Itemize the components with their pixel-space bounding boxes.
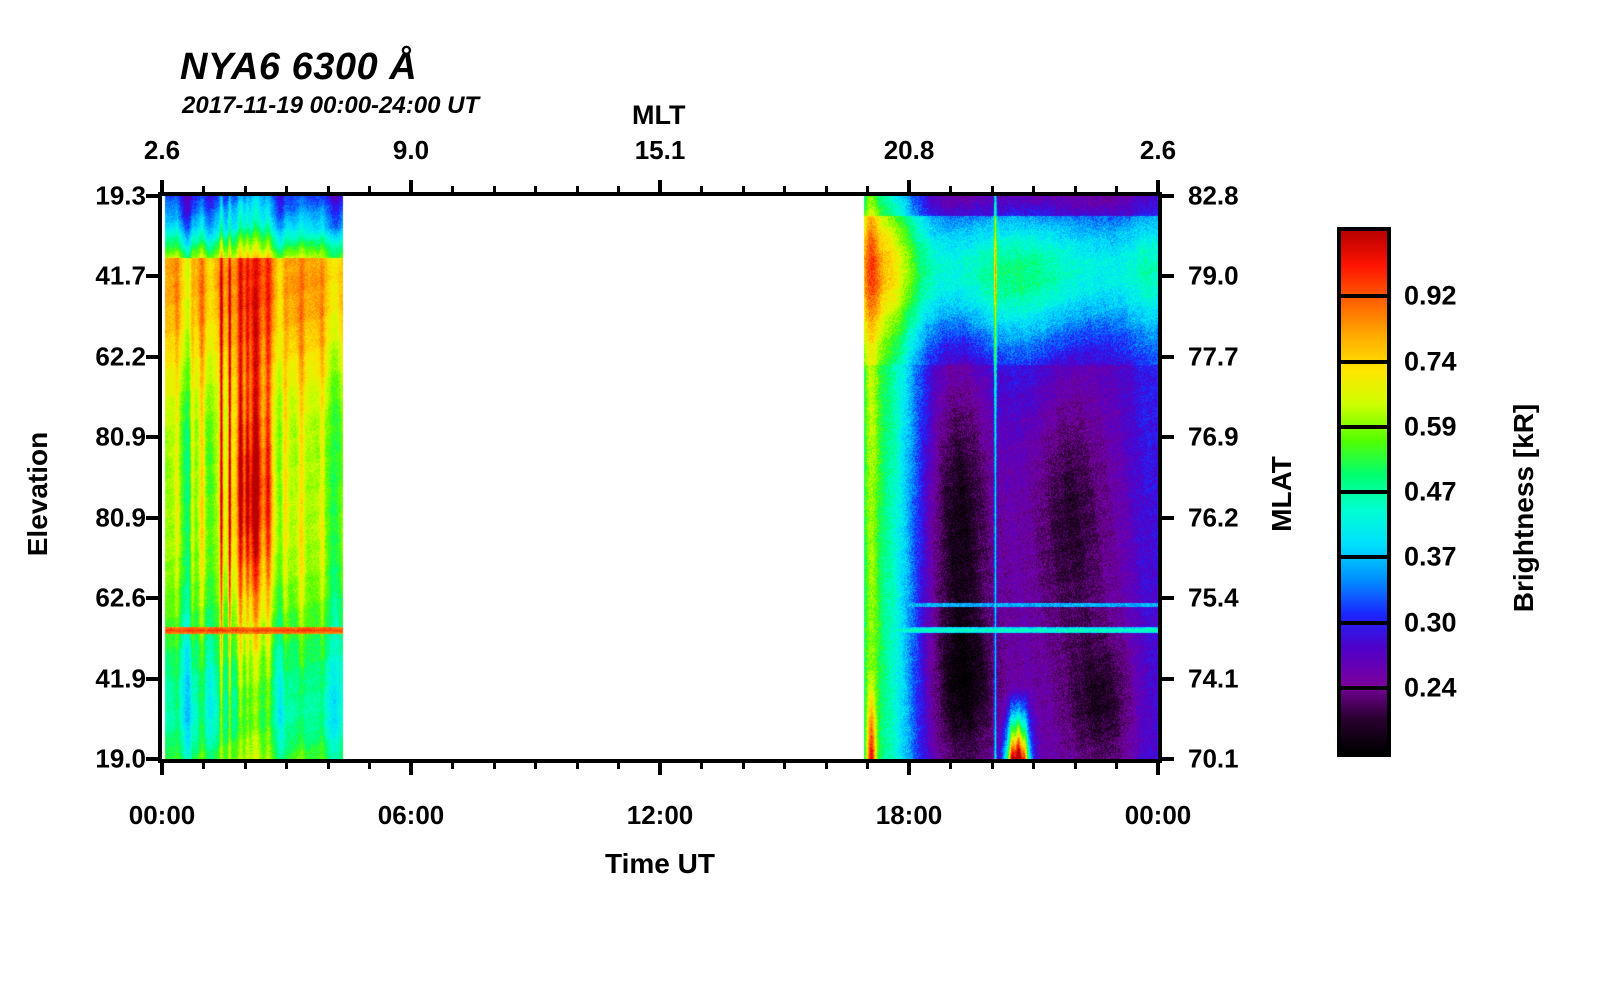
- colorbar-tick-label: 0.30: [1404, 607, 1457, 638]
- keogram-figure: NYA6 6300 Å 2017-11-19 00:00-24:00 UT ML…: [0, 0, 1600, 1000]
- colorbar-tick-label: 0.37: [1404, 542, 1457, 573]
- colorbar-tick-label: 0.47: [1404, 477, 1457, 508]
- colorbar-tick-label: 0.59: [1404, 411, 1457, 442]
- colorbar-tick-label: 0.74: [1404, 346, 1457, 377]
- colorbar-tick-label: 0.92: [1404, 281, 1457, 312]
- colorbar-tick-labels: 0.920.740.590.470.370.300.24: [0, 0, 1600, 1000]
- colorbar-title: Brightness [kR]: [1508, 348, 1540, 668]
- colorbar-tick-label: 0.24: [1404, 672, 1457, 703]
